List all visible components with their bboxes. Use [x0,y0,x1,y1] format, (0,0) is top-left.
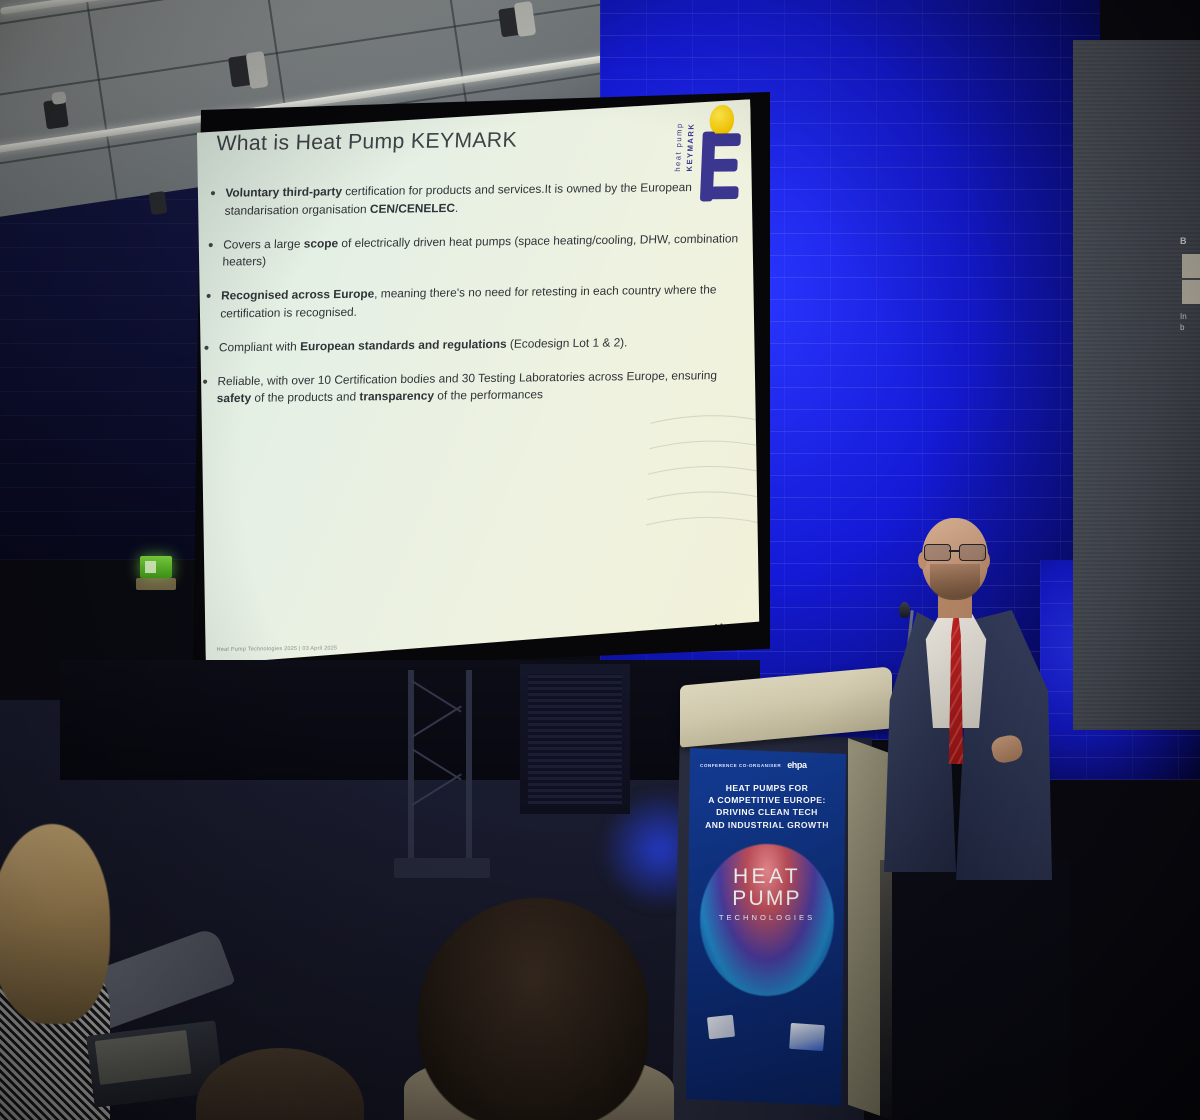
lighting-truss [408,670,478,875]
wall-sign-heading: B [1180,236,1200,248]
sponsor-logo-left [707,1015,735,1040]
spotlight-mount [51,91,67,105]
podium-top-surface [680,666,892,747]
pa-speaker-cabinet [520,664,630,814]
right-grey-panel [1073,40,1200,730]
bullet-text: Reliable, with over 10 Certification bod… [216,367,733,409]
conference-photo-scene: B Inb What is Heat Pump KEYMARK heat pum… [0,0,1200,1120]
slide-bullet-list: ● Voluntary third-party certification fo… [200,179,741,425]
bullet-text: Covers a large scope of electrically dri… [222,230,739,272]
bullet-item: ● Covers a large scope of electrically d… [207,230,739,272]
projection-screen: What is Heat Pump KEYMARK heat pumpKEYMA… [188,97,765,664]
event-title-line: DRIVING CLEAN TECH [692,806,842,818]
emergency-exit-sign [140,556,172,578]
bullet-text: Recognised across Europe, meaning there'… [220,282,737,324]
audience-member-blonde-hair [0,824,110,1024]
podium-event-title: HEAT PUMPS FOR A COMPETITIVE EUROPE: DRI… [692,782,842,831]
slide-footer-text: Heat Pump Technologies 2025 | 03 April 2… [216,645,337,653]
podium-coorganiser-row: CONFERENCE CO-ORGANISER ehpa [700,760,807,770]
event-title-line: A COMPETITIVE EUROPE: [692,794,842,806]
bullet-text: Voluntary third-party certification for … [224,179,741,221]
beard [930,564,980,600]
keymark-logo-text: heat pumpKEYMARK [671,122,697,172]
exit-sign-mount [136,578,176,590]
logo-line-heat: HEAT [700,866,834,888]
speaker-lower-shadow [880,860,1070,1120]
slide-title: What is Heat Pump KEYMARK [216,129,518,157]
sponsor-logo-right [789,1023,825,1051]
bullet-dot: ● [209,185,216,221]
bullet-dot: ● [207,237,214,273]
bullet-item: ● Voluntary third-party certification fo… [209,179,741,221]
wall-sign-swatch [1182,254,1200,278]
coorganiser-logo: ehpa [787,760,806,770]
wall-sign-swatch [1182,280,1200,304]
bullet-item: ● Recognised across Europe, meaning ther… [205,282,737,324]
speaker-person [880,500,1080,1120]
podium: CONFERENCE CO-ORGANISER ehpa HEAT PUMPS … [672,676,892,1120]
logo-line-technologies: TECHNOLOGIES [700,913,834,922]
podium-branding-panel: CONFERENCE CO-ORGANISER ehpa HEAT PUMPS … [686,748,846,1106]
bullet-item: ● Compliant with European standards and … [203,333,734,357]
bullet-text: Compliant with European standards and re… [219,334,628,357]
slide-footer: 41 Heat Pump Technologies 2025 | 03 Apri… [193,645,337,653]
event-title-line: AND INDUSTRIAL GROWTH [692,819,842,831]
coorganiser-label: CONFERENCE CO-ORGANISER [700,763,781,768]
wall-sign-text: Inb [1180,312,1200,338]
event-title-line: HEAT PUMPS FOR [692,782,842,794]
bullet-dot: ● [205,288,212,324]
glasses-icon [924,544,986,559]
logo-line-pump: PUMP [700,888,834,910]
slide: What is Heat Pump KEYMARK heat pumpKEYMA… [188,97,765,664]
decorative-wave-lines [645,403,765,542]
bullet-item: ● Reliable, with over 10 Certification b… [201,367,733,409]
truss-base [394,858,490,878]
bullet-dot: ● [203,340,210,358]
bullet-dot: ● [201,373,208,409]
heat-pump-logo-text: HEAT PUMP TECHNOLOGIES [700,866,834,922]
spotlight [149,191,168,215]
